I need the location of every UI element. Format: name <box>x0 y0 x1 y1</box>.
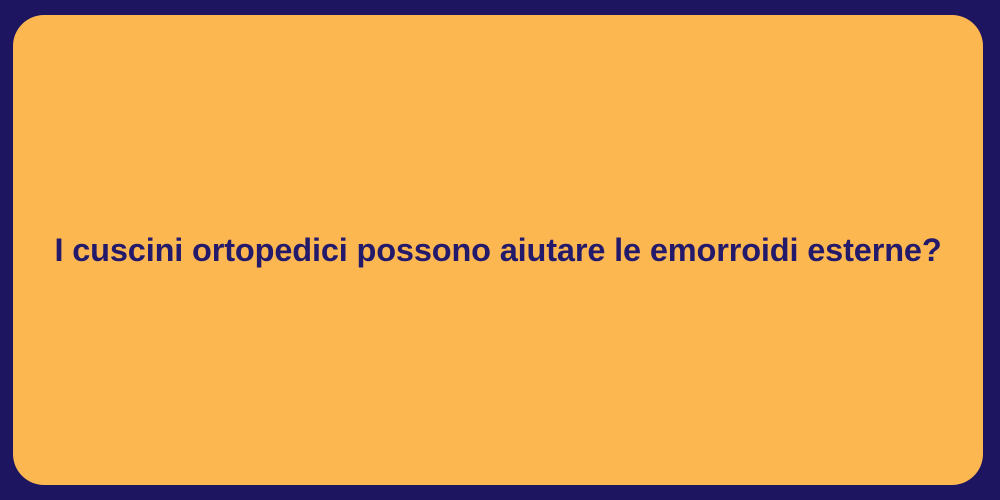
question-card-panel: I cuscini ortopedici possono aiutare le … <box>13 15 983 485</box>
question-card-frame: I cuscini ortopedici possono aiutare le … <box>0 0 1000 500</box>
question-headline: I cuscini ortopedici possono aiutare le … <box>54 230 941 271</box>
